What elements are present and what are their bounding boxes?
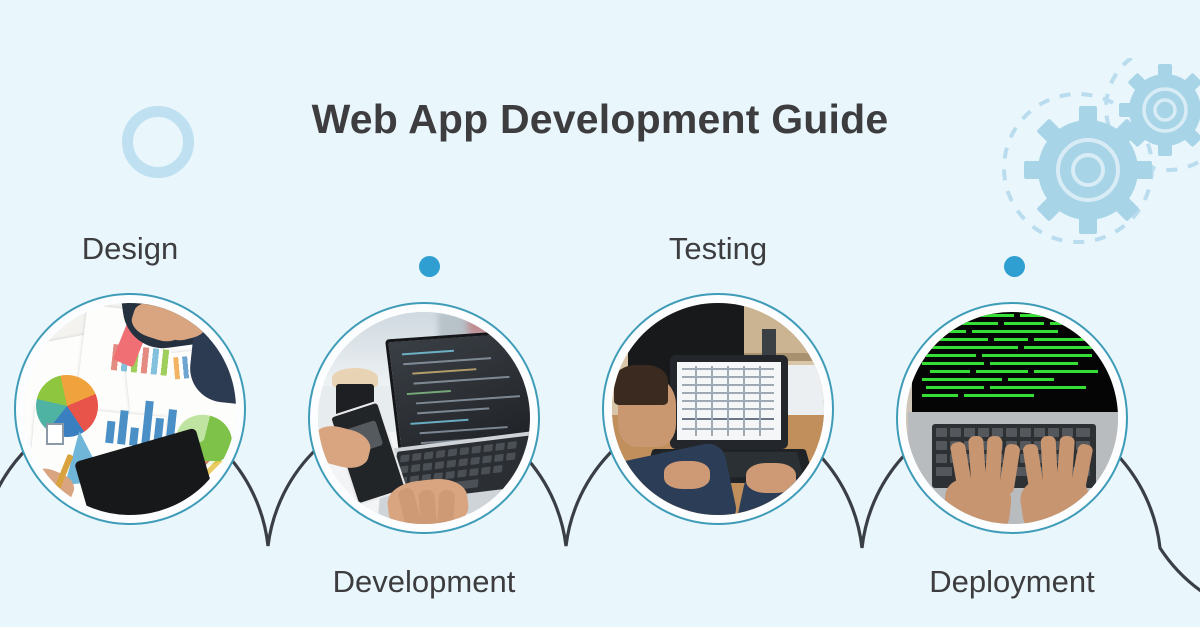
step-photo-ring-testing — [602, 293, 834, 525]
node-dot-development[interactable] — [419, 256, 440, 277]
step-testing[interactable]: Testing — [602, 293, 834, 525]
step-photo-ring-development — [308, 302, 540, 534]
step-image-deployment — [906, 312, 1118, 524]
step-photo-ring-design — [14, 293, 246, 525]
step-image-design — [24, 303, 236, 515]
infographic-stage: Web App Development Guide Design — [0, 0, 1200, 627]
step-label-deployment: Deployment — [852, 564, 1172, 600]
step-design[interactable]: Design — [14, 293, 246, 525]
step-deployment[interactable]: Deployment — [896, 302, 1128, 534]
step-image-development — [318, 312, 530, 524]
page-title: Web App Development Guide — [0, 96, 1200, 143]
node-dot-deployment[interactable] — [1004, 256, 1025, 277]
step-image-testing — [612, 303, 824, 515]
step-photo-ring-deployment — [896, 302, 1128, 534]
step-label-testing: Testing — [558, 231, 878, 267]
step-label-development: Development — [264, 564, 584, 600]
step-label-design: Design — [0, 231, 290, 267]
gear-cluster — [1000, 58, 1200, 248]
step-development[interactable]: Development — [308, 302, 540, 534]
